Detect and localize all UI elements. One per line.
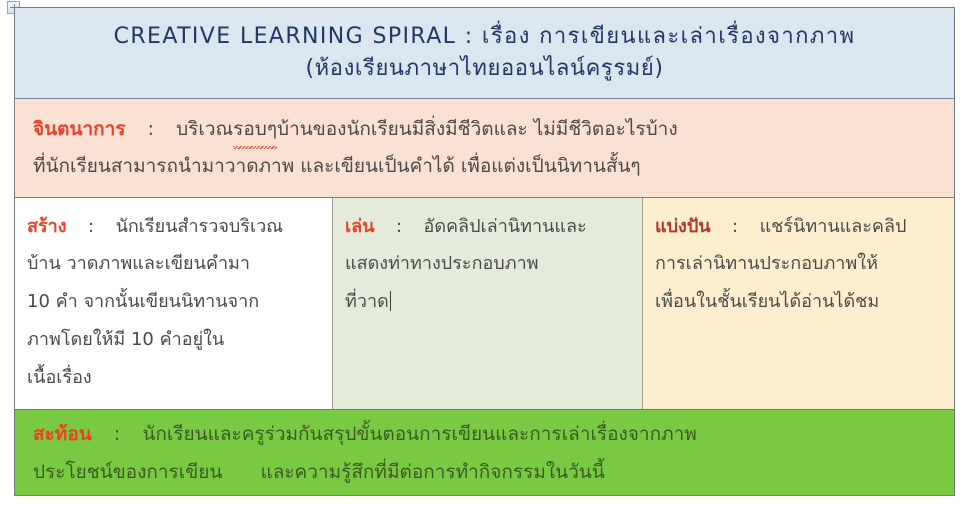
reflect-text-1: นักเรียนและครูร่วมกันสรุปขั้นตอนการเขียน… [142, 423, 696, 445]
table-cell-create[interactable]: สร้าง : นักเรียนสำรวจบริเวณ บ้าน วาดภาพแ… [15, 198, 333, 410]
create-line-1: สร้าง : นักเรียนสำรวจบริเวณ [27, 208, 322, 246]
reflect-colon: : [114, 423, 120, 445]
table-row-imagination[interactable]: จินตนาการ : บริเวณรอบๆบ้านของนักเรียนมีส… [15, 99, 954, 198]
play-colon: : [396, 216, 402, 237]
spellcheck-misspelled-word[interactable]: รอบๆ [233, 111, 277, 148]
share-keyword: แบ่งปัน [655, 216, 711, 237]
page-canvas: CREATIVE LEARNING SPIRAL : เรื่อง การเขี… [0, 0, 964, 508]
create-text-1: นักเรียนสำรวจบริเวณ [116, 216, 283, 237]
text-cursor-caret [390, 291, 391, 311]
create-colon: : [88, 216, 94, 237]
imagination-text-b: บ้านของนักเรียนมีสิ่งมีชีวิตและ ไม่มีชีว… [277, 118, 678, 140]
play-text-3: ที่วาด [345, 291, 389, 312]
reflect-line-1: สะท้อน : นักเรียนและครูร่วมกันสรุปขั้นตอ… [33, 415, 954, 453]
share-line-1: แบ่งปัน : แชร์นิทานและคลิป [655, 208, 944, 246]
imagination-line-2: ที่นักเรียนสามารถนำมาวาดภาพ และเขียนเป็น… [33, 148, 954, 185]
share-colon: : [732, 216, 738, 237]
imagination-colon: : [148, 118, 154, 140]
table-cell-share[interactable]: แบ่งปัน : แชร์นิทานและคลิป การเล่านิทานป… [643, 198, 954, 410]
imagination-line-1: จินตนาการ : บริเวณรอบๆบ้านของนักเรียนมีส… [33, 111, 954, 148]
reflect-keyword: สะท้อน [33, 423, 92, 445]
play-text-1: อัดคลิปเล่านิทานและ [424, 216, 587, 237]
reflect-text-2b: และความรู้สึกที่มีต่อการทำกิจกรรมในวันนี… [260, 461, 604, 483]
page-title-line2: (ห้องเรียนภาษาไทยออนไลน์ครูรมย์) [305, 53, 663, 85]
play-keyword: เล่น [345, 216, 375, 237]
play-line-1: เล่น : อัดคลิปเล่านิทานและ [345, 208, 632, 246]
table-row-reflect[interactable]: สะท้อน : นักเรียนและครูร่วมกันสรุปขั้นตอ… [15, 410, 954, 495]
page-title-line1: CREATIVE LEARNING SPIRAL : เรื่อง การเขี… [114, 21, 856, 53]
play-line-2: แสดงท่าทางประกอบภาพ [345, 245, 632, 283]
share-text-1: แชร์นิทานและคลิป [760, 216, 907, 237]
imagination-text-a: บริเวณ [176, 118, 233, 140]
table-row-header: CREATIVE LEARNING SPIRAL : เรื่อง การเขี… [15, 8, 954, 99]
table-cell-play[interactable]: เล่น : อัดคลิปเล่านิทานและ แสดงท่าทางประ… [333, 198, 643, 410]
table-row-three-columns: สร้าง : นักเรียนสำรวจบริเวณ บ้าน วาดภาพแ… [15, 198, 954, 411]
create-line-2: บ้าน วาดภาพและเขียนคำมา [27, 245, 322, 283]
reflect-line-2: ประโยชน์ของการเขียน และความรู้สึกที่มีต่… [33, 453, 954, 491]
play-line-3: ที่วาด [345, 283, 632, 321]
create-line-3: 10 คำ จากนั้นเขียนนิทานจาก [27, 283, 322, 321]
reflect-text-2a: ประโยชน์ของการเขียน [33, 461, 222, 483]
create-keyword: สร้าง [27, 216, 67, 237]
create-line-5: เนื้อเรื่อง [27, 359, 322, 397]
share-line-3: เพื่อนในชั้นเรียนได้อ่านได้ชม [655, 283, 944, 321]
imagination-keyword: จินตนาการ [33, 118, 126, 140]
share-line-2: การเล่านิทานประกอบภาพให้ [655, 245, 944, 283]
creative-learning-spiral-table: CREATIVE LEARNING SPIRAL : เรื่อง การเขี… [14, 7, 955, 496]
create-line-4: ภาพโดยให้มี 10 คำอยู่ใน [27, 321, 322, 359]
